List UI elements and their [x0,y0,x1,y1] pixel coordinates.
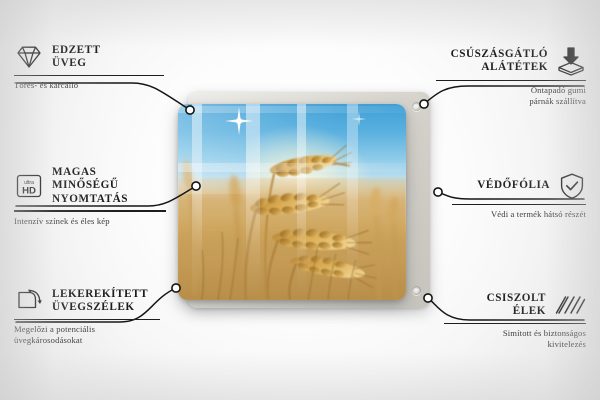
callout-protective-film: VÉDŐFÓLIA Védi a termék hátsó részét [452,172,586,220]
mounting-hole-bottom-right [412,286,421,295]
callout-description: Intenzív színek és éles kép [14,216,166,227]
callout-rounded-edges: LEKEREKÍTETT ÜVEGSZÉLEK Megelőzi a poten… [14,288,160,345]
callout-description: Megelőzi a potenciális üvegkárosodásokat [14,324,160,345]
callout-title: VÉDŐFÓLIA [477,179,550,192]
diamond-icon [14,44,44,70]
callout-description: Törés- és karcálló [14,80,164,91]
callout-description: Simított és biztonságos kivitelezés [444,328,586,349]
callout-title: MAGAS MINŐSÉGŰ NYOMTATÁS [52,166,166,206]
ultra-hd-icon: ultra HD [14,173,44,199]
callout-print-quality: ultra HD MAGAS MINŐSÉGŰ NYOMTATÁS Intenz… [14,166,166,226]
wheat-stalks-art [178,104,406,300]
shield-check-icon [558,172,586,200]
callout-polished-edges: CSISZOLT ÉLEK Simított és biztonságos ki… [444,292,586,349]
infographic-canvas: EDZETT ÜVEG Törés- és karcálló ultra HD … [0,0,600,400]
title-rule [14,319,160,320]
ultra-hd-main-label: HD [22,185,36,196]
callout-anti-slip: CSÚSZÁSGÁTLÓ ALÁTÉTEK Öntapadó gumi párn… [436,46,586,107]
product-image [178,92,430,308]
glass-panel [178,104,406,300]
title-rule [452,204,586,205]
title-rule [444,323,586,324]
callout-title: LEKEREKÍTETT ÜVEGSZÉLEK [52,288,148,315]
callout-title: EDZETT ÜVEG [52,44,101,71]
title-rule [436,80,586,81]
callout-title: CSISZOLT ÉLEK [487,292,546,319]
callout-title: CSÚSZÁSGÁTLÓ ALÁTÉTEK [451,48,548,75]
title-rule [14,210,166,211]
anti-slip-pad-icon [556,46,586,76]
callout-tempered-glass: EDZETT ÜVEG Törés- és karcálló [14,44,164,91]
mounting-hole-top-right [412,102,421,111]
callout-description: Védi a termék hátsó részét [452,209,586,220]
callout-description: Öntapadó gumi párnák szállítva [436,85,586,106]
title-rule [14,75,164,76]
rounded-corner-icon [14,288,44,314]
hatch-lines-icon [554,293,586,317]
